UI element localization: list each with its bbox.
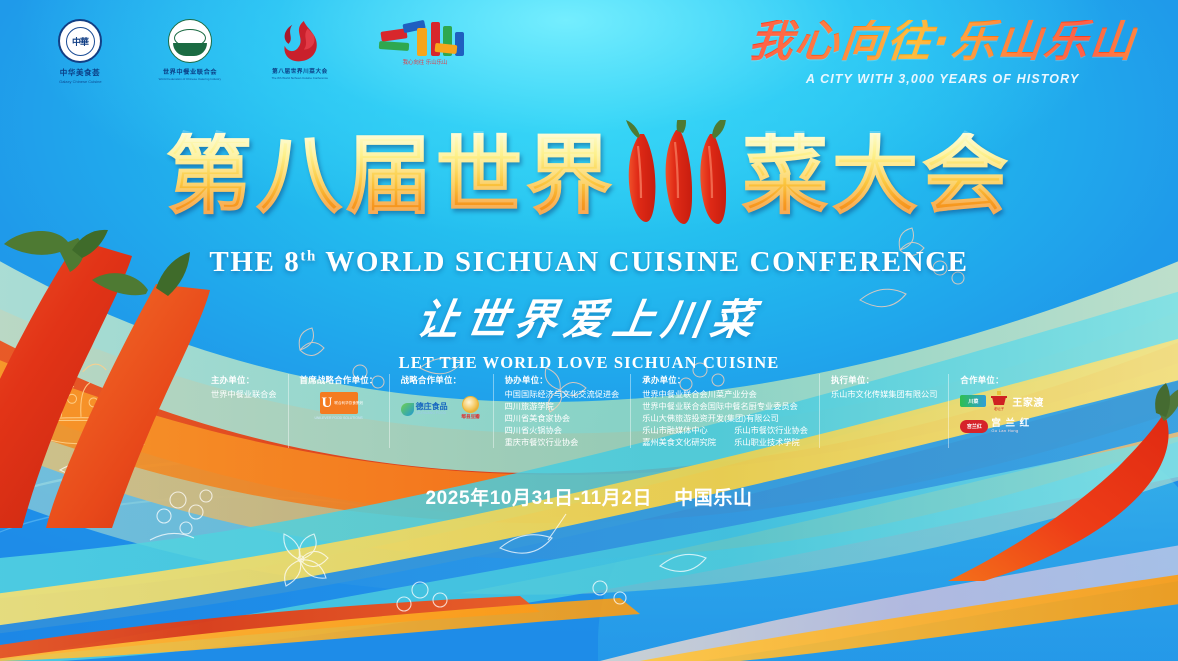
logo-label-cn: 第八届世界川菜大会 bbox=[272, 67, 328, 75]
pixian-doubanjiang-logo-icon: 郫县豆瓣 bbox=[460, 396, 482, 422]
credits-line: 四川旅游学院 bbox=[505, 401, 620, 413]
credits-line-a: 乐山市融媒体中心 bbox=[642, 425, 734, 437]
sidebar-logo-leshan[interactable]: 我心向往 乐山乐山 bbox=[370, 18, 480, 64]
partner-red-oval-logo-icon: 宫兰红 bbox=[960, 420, 988, 433]
partner-logo-group-row2: 宫兰红 宫 兰 红 Gu Lan Hong bbox=[960, 416, 1044, 436]
credits-col-executor: 执行单位： 乐山市文化传媒集团有限公司 bbox=[819, 374, 948, 448]
credits-line: 乐山市文化传媒集团有限公司 bbox=[831, 389, 937, 401]
credits-heading: 主办单位： bbox=[211, 374, 277, 386]
seal-logo-text: 郫县豆瓣 bbox=[461, 414, 479, 420]
slogan-block: 让世界爱上川菜 LET THE WORLD LOVE SICHUAN CUISI… bbox=[0, 286, 1178, 373]
leaf-icon bbox=[401, 403, 414, 416]
partner-green-logo-icon: 川菜 bbox=[960, 395, 986, 407]
seal-round-icon bbox=[462, 396, 479, 413]
header-logo-row: 中華 中华美食荟 Galaxy Chinese Cuisine 世界中餐业联合会… bbox=[40, 18, 480, 84]
credits-line-b: 乐山市餐饮行业协会 bbox=[734, 425, 808, 437]
flame-icon bbox=[279, 18, 321, 64]
partner-wangjiadu-logo-text: 王家渡 bbox=[1012, 394, 1044, 409]
unilever-logo-sub: UNILEVER FOOD SOLUTIONS bbox=[314, 416, 362, 420]
title-en-sup: th bbox=[300, 248, 317, 264]
title-en-rest: WORLD SICHUAN CUISINE CONFERENCE bbox=[317, 246, 969, 278]
page-title-cn-left: 第八届世界 bbox=[166, 133, 616, 219]
credits-line: 乐山大佛旅游投资开发(集团)有限公司 bbox=[642, 413, 808, 425]
credits-col-chief-strategic: 首席战略合作单位： U 联合利华饮食策划 UNILEVER FOOD SOLUT… bbox=[288, 374, 389, 448]
slogan-cn: 让世界爱上川菜 bbox=[0, 286, 1178, 347]
chuan-character-peppers-icon bbox=[618, 120, 740, 232]
svg-text:我心向往 乐山乐山: 我心向往 乐山乐山 bbox=[403, 58, 448, 66]
logo-label-cn: 中华美食荟 bbox=[60, 67, 101, 78]
svg-text:老坛子: 老坛子 bbox=[994, 406, 1005, 411]
globe-icon bbox=[168, 18, 212, 64]
logo-label-en: Galaxy Chinese Cuisine bbox=[59, 79, 101, 84]
page-title-cn-right: 菜大会 bbox=[742, 133, 1012, 219]
credits-line: 四川省美食家协会 bbox=[505, 413, 620, 425]
partner-logo-group: U 联合利华饮食策划 UNILEVER FOOD SOLUTIONS bbox=[300, 392, 378, 420]
unilever-u-icon: U bbox=[322, 396, 333, 411]
credits-col-strategic: 战略合作单位： 德庄食品 DEZHUANG FOOD 郫县豆瓣 bbox=[389, 374, 493, 448]
credits-heading: 执行单位： bbox=[831, 374, 937, 386]
credits-row: 主办单位： 世界中餐业联合会 首席战略合作单位： U 联合利华饮食策划 UNIL… bbox=[200, 374, 1055, 452]
sidebar-logo-wfcci[interactable]: 世界中餐业联合会 World Federation of Chinese Cat… bbox=[150, 18, 230, 81]
partner-seal-logo-icon: 老坛子 bbox=[989, 391, 1009, 411]
credits-line: 重庆市餐饮行业协会 bbox=[505, 437, 620, 449]
unilever-logo-text: 联合利华饮食策划 bbox=[334, 401, 363, 405]
dezhuang-logo-sub: DEZHUANG FOOD bbox=[416, 411, 448, 415]
dezhuang-logo-icon: 德庄食品 DEZHUANG FOOD bbox=[401, 403, 448, 416]
credits-col-partners: 合作单位： 川菜 老坛子 王家渡 宫兰红 宫 兰 红 Gu Lan H bbox=[948, 374, 1055, 448]
logo-label-cn: 世界中餐业联合会 bbox=[163, 67, 217, 76]
credits-line: 四川省火锅协会 bbox=[505, 425, 620, 437]
credits-line: 世界中餐业联合会 bbox=[211, 389, 277, 401]
credits-heading: 协办单位： bbox=[505, 374, 620, 386]
brand-slogan-cn: 我心向往·乐山乐山 bbox=[747, 20, 1138, 64]
page-title-en: THE 8th WORLD SICHUAN CUISINE CONFERENCE bbox=[0, 246, 1178, 279]
event-date: 2025年10月31日-11月2日 bbox=[425, 488, 652, 509]
brand-slogan-en: A CITY WITH 3,000 YEARS OF HISTORY bbox=[749, 72, 1136, 86]
credits-col-host: 主办单位： 世界中餐业联合会 bbox=[200, 374, 288, 448]
partner-logo-group: 德庄食品 DEZHUANG FOOD 郫县豆瓣 bbox=[401, 396, 482, 422]
credits-line: 中国国际经济与文化交流促进会 bbox=[505, 389, 620, 401]
logo-label-en: The 8th World Sichuan Cuisine Conference bbox=[272, 76, 328, 80]
leshan-logo-icon: 我心向往 乐山乐山 bbox=[373, 18, 477, 64]
slogan-en: LET THE WORLD LOVE SICHUAN CUISINE bbox=[0, 353, 1178, 373]
dezhuang-logo-text: 德庄食品 bbox=[416, 403, 448, 411]
credits-line: 乐山市融媒体中心乐山市餐饮行业协会 bbox=[642, 425, 808, 437]
event-city: 中国乐山 bbox=[674, 488, 752, 509]
credits-heading: 首席战略合作单位： bbox=[300, 374, 378, 386]
partner-logo-group-row1: 川菜 老坛子 王家渡 bbox=[960, 391, 1044, 411]
credits-line: 嘉州美食文化研究院乐山职业技术学院 bbox=[642, 437, 808, 449]
title-en-prefix: THE 8 bbox=[209, 246, 300, 278]
event-date-line: 2025年10月31日-11月2日中国乐山 bbox=[0, 483, 1178, 510]
logo-label-en: World Federation of Chinese Catering Ind… bbox=[159, 77, 221, 81]
credits-line: 世界中餐业联合会川菜产业分会 bbox=[642, 389, 808, 401]
credits-col-coorganizers: 协办单位： 中国国际经济与文化交流促进会 四川旅游学院 四川省美食家协会 四川省… bbox=[493, 374, 631, 448]
credits-heading: 承办单位： bbox=[642, 374, 808, 386]
credits-heading: 战略合作单位： bbox=[401, 374, 482, 386]
credits-line: 世界中餐业联合会国际中餐名厨专业委员会 bbox=[642, 401, 808, 413]
partner-gonglanhong-sub: Gu Lan Hong bbox=[991, 429, 1030, 433]
partner-gonglanhong-logo: 宫 兰 红 Gu Lan Hong bbox=[991, 419, 1030, 434]
unilever-logo-icon: U 联合利华饮食策划 bbox=[320, 392, 358, 414]
credits-line-b: 乐山职业技术学院 bbox=[734, 437, 800, 449]
sidebar-logo-conference[interactable]: 第八届世界川菜大会 The 8th World Sichuan Cuisine … bbox=[260, 18, 340, 80]
credits-col-organizers: 承办单位： 世界中餐业联合会川菜产业分会 世界中餐业联合会国际中餐名厨专业委员会… bbox=[630, 374, 819, 448]
seal-ring-icon: 中華 bbox=[58, 18, 102, 64]
conference-poster: 中華 中华美食荟 Galaxy Chinese Cuisine 世界中餐业联合会… bbox=[0, 0, 1178, 661]
sidebar-logo-china-cuisine[interactable]: 中華 中华美食荟 Galaxy Chinese Cuisine bbox=[40, 18, 120, 84]
leshan-brand-slogan: 我心向往·乐山乐山 A CITY WITH 3,000 YEARS OF HIS… bbox=[749, 20, 1136, 86]
credits-line-a: 嘉州美食文化研究院 bbox=[642, 437, 734, 449]
main-title-block: 第八届世界 bbox=[0, 120, 1178, 279]
credits-heading: 合作单位： bbox=[960, 374, 1044, 386]
